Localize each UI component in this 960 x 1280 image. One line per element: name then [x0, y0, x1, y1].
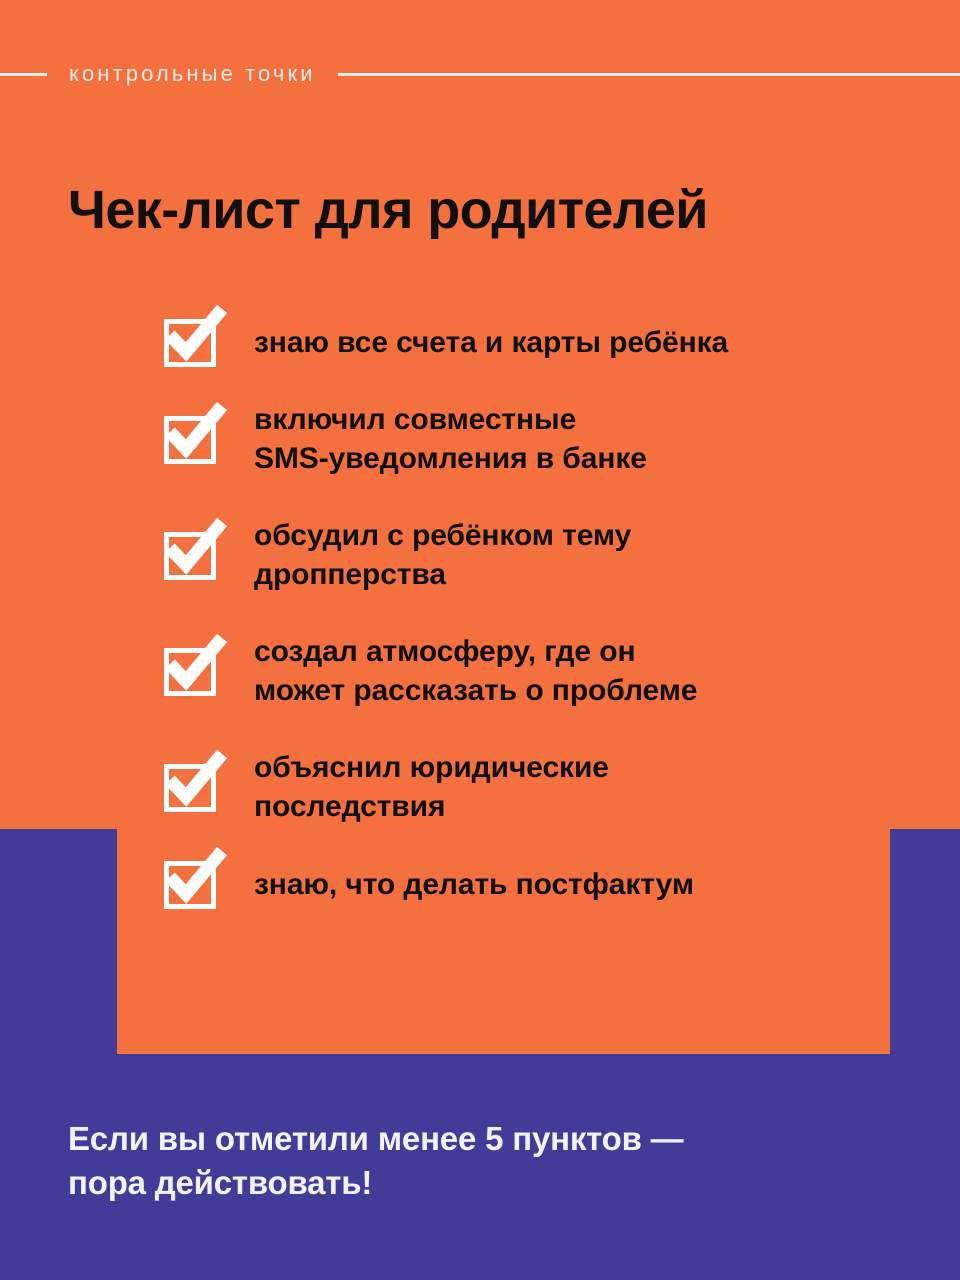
list-item[interactable]: знаю все счета и карты ребёнка	[164, 312, 904, 374]
list-item-line-1: знаю, что делать постфактум	[254, 868, 694, 901]
kicker-rule-left	[0, 73, 47, 76]
checklist: знаю все счета и карты ребёнка включил с…	[164, 312, 904, 916]
checklist-slide: контрольные точки Чек-лист для родителей…	[0, 0, 960, 1280]
list-item-label: объяснил юридические последствия	[254, 749, 609, 826]
list-item-label: создал атмосферу, где он может рассказат…	[254, 633, 697, 710]
list-item-line-1: включил совместные	[254, 403, 576, 436]
list-item[interactable]: знаю, что делать постфактум	[164, 854, 904, 916]
footer-line-2: пора действовать!	[68, 1161, 888, 1205]
kicker-rule-right	[338, 73, 960, 76]
list-item-line-2: последствия	[254, 788, 609, 827]
footer-callout: Если вы отметили менее 5 пунктов — пора …	[68, 1117, 888, 1204]
checked-checkbox-icon[interactable]	[164, 648, 216, 696]
list-item-line-1: объяснил юридические	[254, 751, 609, 784]
kicker-label: контрольные точки	[47, 63, 338, 85]
checked-checkbox-icon[interactable]	[164, 764, 216, 812]
checked-checkbox-icon[interactable]	[164, 319, 216, 367]
list-item-label: знаю все счета и карты ребёнка	[254, 324, 728, 363]
list-item-line-1: знаю все счета и карты ребёнка	[254, 326, 728, 359]
checked-checkbox-icon[interactable]	[164, 861, 216, 909]
list-item-line-2: дропперства	[254, 556, 631, 595]
list-item-line-2: может рассказать о проблеме	[254, 672, 697, 711]
list-item[interactable]: создал атмосферу, где он может рассказат…	[164, 624, 904, 720]
kicker-row: контрольные точки	[0, 58, 960, 90]
list-item[interactable]: обсудил с ребёнком тему дропперства	[164, 508, 904, 604]
checked-checkbox-icon[interactable]	[164, 416, 216, 464]
footer-line-1: Если вы отметили менее 5 пунктов —	[68, 1120, 683, 1157]
list-item-line-1: обсудил с ребёнком тему	[254, 519, 631, 552]
list-item[interactable]: объяснил юридические последствия	[164, 740, 904, 836]
page-title: Чек-лист для родителей	[68, 182, 908, 239]
list-item-label: знаю, что делать постфактум	[254, 866, 694, 905]
list-item-label: включил совместные SMS-уведомления в бан…	[254, 401, 647, 478]
list-item-label: обсудил с ребёнком тему дропперства	[254, 517, 631, 594]
list-item-line-2: SMS-уведомления в банке	[254, 440, 647, 479]
list-item[interactable]: включил совместные SMS-уведомления в бан…	[164, 392, 904, 488]
checked-checkbox-icon[interactable]	[164, 532, 216, 580]
list-item-line-1: создал атмосферу, где он	[254, 635, 635, 668]
